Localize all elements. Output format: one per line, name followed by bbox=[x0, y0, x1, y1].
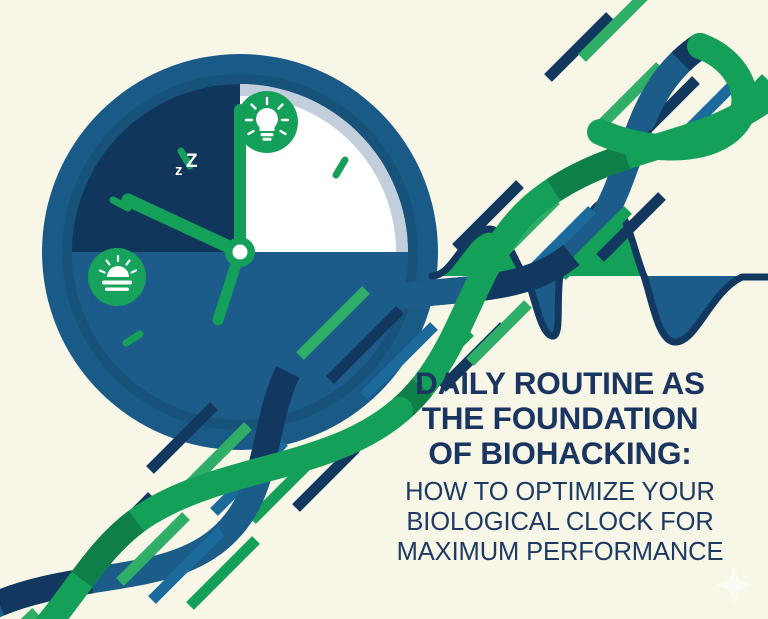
lightbulb-badge[interactable] bbox=[236, 91, 298, 153]
subtitle-line-2: BIOLOGICAL CLOCK FOR bbox=[364, 507, 756, 537]
poster-title: DAILY ROUTINE AS THE FOUNDATION OF BIOHA… bbox=[364, 366, 756, 471]
zzz-small-letter: z bbox=[175, 162, 183, 179]
sunrise-badge[interactable] bbox=[88, 248, 146, 306]
headline-block: DAILY ROUTINE AS THE FOUNDATION OF BIOHA… bbox=[364, 366, 756, 567]
poster-subtitle: HOW TO OPTIMIZE YOUR BIOLOGICAL CLOCK FO… bbox=[364, 477, 756, 567]
subtitle-line-3: MAXIMUM PERFORMANCE bbox=[364, 537, 756, 567]
title-line-2: THE FOUNDATION bbox=[364, 401, 756, 436]
poster-canvas: z Z bbox=[0, 0, 768, 619]
title-line-1: DAILY ROUTINE AS bbox=[364, 366, 756, 401]
zzz-large-letter: Z bbox=[186, 151, 198, 172]
clock-center-hub-inner bbox=[233, 245, 248, 260]
subtitle-line-1: HOW TO OPTIMIZE YOUR bbox=[364, 477, 756, 507]
title-line-3: OF BIOHACKING: bbox=[364, 436, 756, 471]
